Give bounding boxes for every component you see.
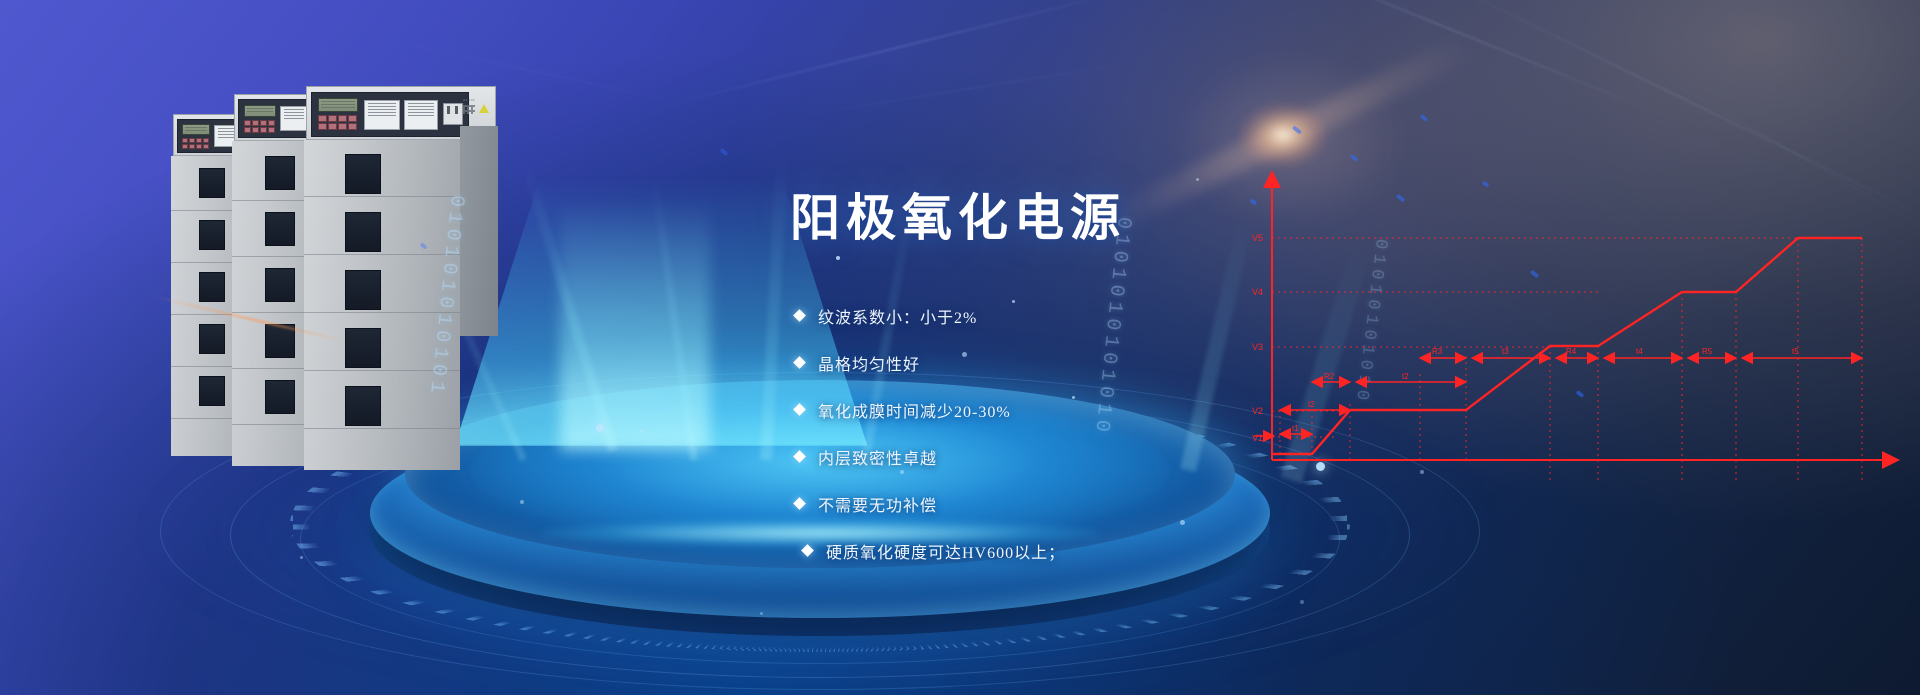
cabinet-vent xyxy=(265,380,295,414)
cabinet-vent xyxy=(199,272,225,302)
panel-label-card xyxy=(364,100,400,130)
cabinet-vent xyxy=(199,168,225,198)
breaker-switch[interactable] xyxy=(443,103,463,125)
cabinet-vent xyxy=(265,268,295,302)
list-item: 晶格均匀性好 xyxy=(795,339,1265,386)
chart-annotation-t2b: t2 xyxy=(1402,372,1409,381)
feature-list: 纹波系数小：小于2% 晶格均匀性好 氧化成膜时间减少20-30% 内层致密性卓越… xyxy=(795,292,1265,574)
binary-stream: 01010101010 xyxy=(1351,238,1390,406)
chart-annotation-R3: R3 xyxy=(1432,347,1443,356)
control-panel xyxy=(311,92,469,137)
keypad[interactable] xyxy=(318,115,357,130)
chart-gridlines xyxy=(1272,238,1798,437)
list-item: 氧化成膜时间减少20-30% xyxy=(795,386,1265,433)
list-item: 内层致密性卓越 xyxy=(795,433,1265,480)
light-ray xyxy=(760,150,788,460)
chart-axes xyxy=(1272,172,1898,460)
chart-annotation-R5: R5 xyxy=(1702,347,1713,356)
list-item-label: 不需要无功补偿 xyxy=(818,492,937,516)
chart-annotation-R2: R2 xyxy=(1324,372,1335,381)
panel-label-card xyxy=(280,106,308,131)
list-item-label: 氧化成膜时间减少20-30% xyxy=(818,398,1011,422)
diamond-bullet-icon xyxy=(793,497,806,510)
light-beam xyxy=(1199,0,1682,123)
chart-annotation-t1: t1 xyxy=(1292,424,1299,433)
cabinet-vent xyxy=(345,154,381,194)
list-item: 纹波系数小：小于2% xyxy=(795,292,1265,339)
panel-label-card xyxy=(404,100,438,130)
keypad[interactable] xyxy=(244,120,275,133)
light-beam xyxy=(1410,0,1920,229)
list-item-label: 内层致密性卓越 xyxy=(818,445,937,469)
diamond-bullet-icon xyxy=(793,356,806,369)
page-title: 阳极氧化电源 xyxy=(790,178,1126,250)
list-item-label: 晶格均匀性好 xyxy=(818,351,920,375)
chart-annotation-R4: R4 xyxy=(1566,347,1577,356)
cabinet-vent xyxy=(345,386,381,426)
diamond-bullet-icon xyxy=(793,309,806,322)
chart-y-tick: V5 xyxy=(1252,233,1263,243)
lens-flare-glow xyxy=(1170,50,1410,230)
lens-flare-streak xyxy=(1105,34,1476,233)
cabinet-vent xyxy=(265,212,295,246)
lcd-display xyxy=(244,105,276,117)
anodizing-power-supply-banner: HV-100 010101010101 0101010101010 010101… xyxy=(0,0,1920,695)
list-item: 硬质氧化硬度可达HV600以上； xyxy=(795,527,1265,574)
warning-label-text: HV-100 xyxy=(463,98,475,102)
cabinet-vent xyxy=(199,324,225,354)
anodizing-power-cabinets: HV-100 xyxy=(205,100,605,520)
diamond-bullet-icon xyxy=(793,403,806,416)
chart-droplines xyxy=(1280,238,1862,480)
light-ray xyxy=(1280,238,1374,484)
voltage-ramp-chart: V1 V2 V3 V4 V5 t1 t2 R2 t2 xyxy=(1250,160,1910,490)
chart-annotation-t5: t5 xyxy=(1792,347,1799,356)
warning-label: HV-100 xyxy=(463,103,489,117)
chart-span-lower xyxy=(1280,410,1350,434)
light-beam xyxy=(647,0,1152,111)
light-beam xyxy=(763,55,1178,122)
cabinet-vent xyxy=(345,212,381,252)
chart-annotation-t4: t4 xyxy=(1636,347,1643,356)
light-beam xyxy=(1591,35,1920,266)
cabinet-vent xyxy=(345,270,381,310)
diamond-bullet-icon xyxy=(793,450,806,463)
chart-annotation-t3: t3 xyxy=(1502,347,1509,356)
list-item: 不需要无功补偿 xyxy=(795,480,1265,527)
cabinet-vent xyxy=(199,220,225,250)
light-ray xyxy=(650,172,698,460)
cabinet-vent xyxy=(265,324,295,358)
chart-annotation-t2: t2 xyxy=(1308,400,1315,409)
diamond-bullet-icon xyxy=(801,544,814,557)
lcd-display xyxy=(182,124,210,135)
keypad[interactable] xyxy=(182,138,209,149)
lcd-display xyxy=(318,98,358,112)
cabinet-side-panel xyxy=(460,126,498,336)
cabinet-vent xyxy=(199,376,225,406)
chart-waveform xyxy=(1272,238,1862,454)
lens-flare-core xyxy=(1240,104,1326,166)
cabinet-vent xyxy=(265,156,295,190)
cabinet-vent xyxy=(345,328,381,368)
warning-triangle-icon xyxy=(479,104,489,113)
list-item-label: 纹波系数小：小于2% xyxy=(818,304,977,328)
list-item-label: 硬质氧化硬度可达HV600以上； xyxy=(826,539,1065,563)
cabinet-body xyxy=(304,140,460,470)
